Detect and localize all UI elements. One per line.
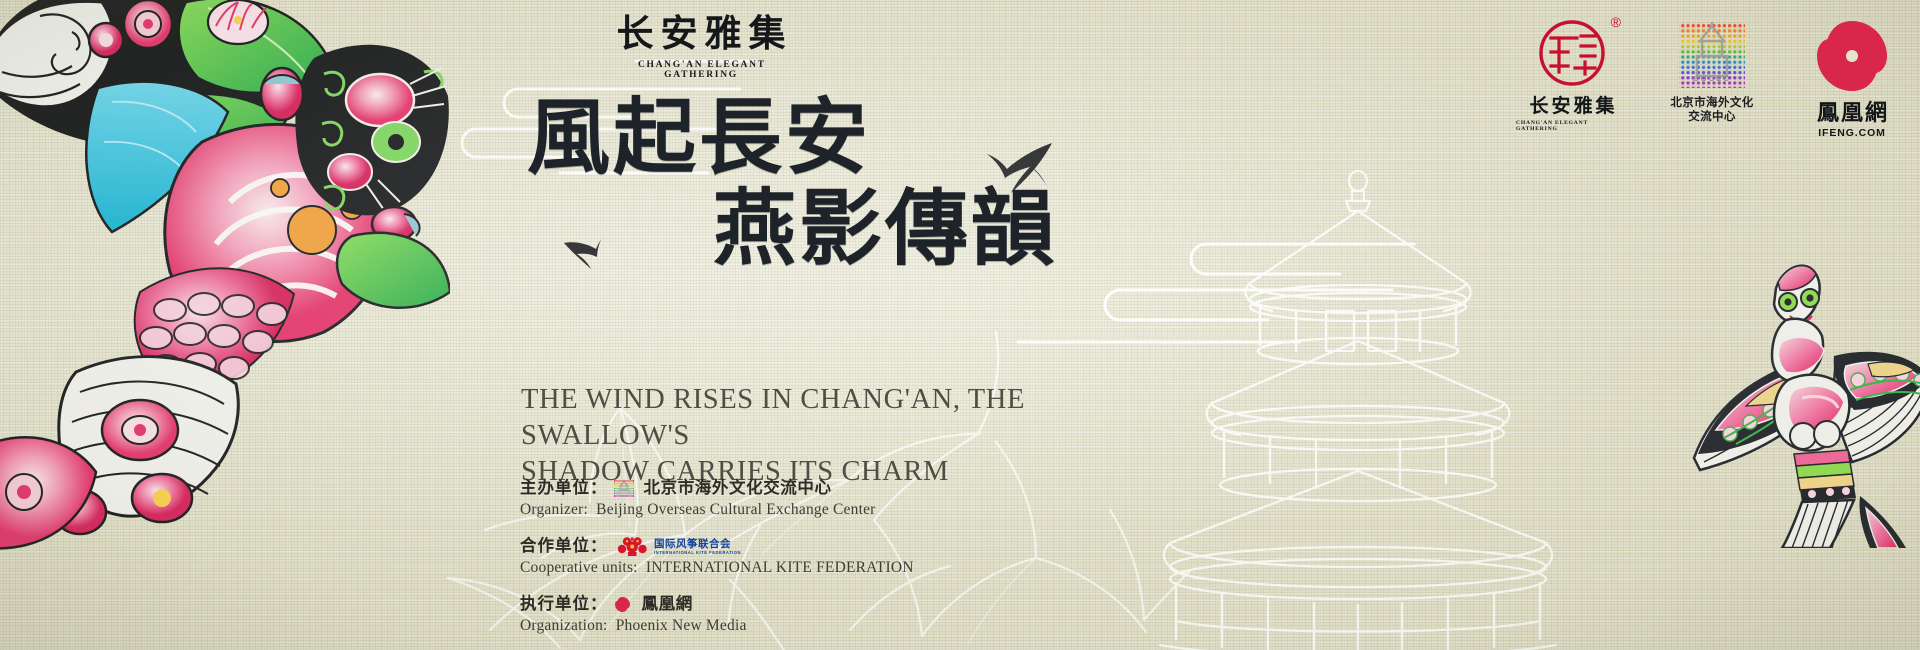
bocec-mark-icon: BOCEC xyxy=(1675,18,1749,92)
credit-organization-org-en: Phoenix New Media xyxy=(616,617,747,634)
credit-organization-cn: 执行单位： 鳳凰網 xyxy=(520,594,1140,614)
peony-swallow-kite-artwork xyxy=(0,0,450,552)
banner-root: 长安雅集 CHANG'AN ELEGANT GATHERING 風起長安 燕影傳… xyxy=(0,0,1920,650)
subtitle-line-1: THE WIND RISES IN CHANG'AN, THE SWALLOW'… xyxy=(521,382,1201,454)
credit-organizer-org-en: Beijing Overseas Cultural Exchange Cente… xyxy=(596,501,875,518)
changan-logo-cn: 长安雅集 xyxy=(1526,91,1617,118)
phoenix-icon xyxy=(614,596,631,613)
brand-title-cn: 长安雅集 xyxy=(606,16,796,55)
bocec-logo: BOCEC 北京市海外文化 交流中心 xyxy=(1652,18,1772,124)
changan-elegant-gathering-logo: ® 长安雅集 CHANG'AN ELEGANT GATHERING xyxy=(1516,18,1628,132)
main-title: 風起長安 燕影傳韻 xyxy=(505,96,1065,272)
credit-organization: 执行单位： 鳳凰網 Organization: Phoenix New Medi… xyxy=(520,594,1140,635)
credit-organization-en: Organization: Phoenix New Media xyxy=(520,616,1140,635)
registered-mark: ® xyxy=(1611,14,1621,30)
credit-organizer: 主办单位： xyxy=(520,478,1140,519)
title-line-2: 燕影傳韻 xyxy=(505,186,1065,272)
credit-organizer-cn: 主办单位： xyxy=(520,478,1140,498)
ifeng-logo: 鳳凰網 IFENG.COM xyxy=(1796,18,1908,139)
credit-cooperative: 合作单位： 国际风筝联合会 INTERNATIONAL KITE FED xyxy=(520,536,1140,577)
ifeng-logo-en: IFENG.COM xyxy=(1818,127,1886,139)
credit-organization-label-cn: 执行单位： xyxy=(520,594,608,614)
bocec-icon xyxy=(614,480,634,497)
svg-text:国际风筝联合会: 国际风筝联合会 xyxy=(654,537,731,550)
bocec-logo-cn-line2: 交流中心 xyxy=(1670,110,1753,124)
title-line-1: 風起長安 xyxy=(505,96,1065,180)
ifeng-logo-cn: 鳳凰網 xyxy=(1815,95,1889,127)
credit-cooperative-label-en: Cooperative units: xyxy=(520,559,638,576)
credit-organizer-label-cn: 主办单位： xyxy=(520,478,608,498)
seal-icon: ® xyxy=(1537,18,1607,88)
credits-block: 主办单位： xyxy=(520,478,1140,650)
svg-text:INTERNATIONAL KITE FEDERATION: INTERNATIONAL KITE FEDERATION xyxy=(654,550,741,555)
credit-organization-label-en: Organization: xyxy=(520,617,608,634)
subtitle: THE WIND RISES IN CHANG'AN, THE SWALLOW'… xyxy=(521,382,1201,490)
bocec-logo-cn: 北京市海外文化 交流中心 xyxy=(1670,96,1753,124)
credit-organizer-label-en: Organizer: xyxy=(520,501,588,518)
kite-federation-icon: 国际风筝联合会 INTERNATIONAL KITE FEDERATION xyxy=(614,536,746,556)
bocec-logo-cn-line1: 北京市海外文化 xyxy=(1670,96,1753,110)
credit-organizer-en: Organizer: Beijing Overseas Cultural Exc… xyxy=(520,500,1140,519)
phoenix-pinwheel-icon xyxy=(1814,18,1890,94)
credit-cooperative-cn: 合作单位： 国际风筝联合会 INTERNATIONAL KITE FED xyxy=(520,536,1140,556)
bocec-mark-text: BOCEC xyxy=(1693,74,1731,83)
changan-logo-en: CHANG'AN ELEGANT GATHERING xyxy=(1516,120,1628,132)
brand-wordmark: 长安雅集 CHANG'AN ELEGANT GATHERING xyxy=(606,16,796,80)
credit-organization-org-cn: 鳳凰網 xyxy=(642,594,693,614)
partner-logo-bar: ® 长安雅集 CHANG'AN ELEGANT GATHERING xyxy=(1516,18,1908,139)
credit-cooperative-en: Cooperative units: INTERNATIONAL KITE FE… xyxy=(520,558,1140,577)
beijing-shayan-swallow-kite-artwork xyxy=(1690,258,1920,548)
brand-title-en: CHANG'AN ELEGANT GATHERING xyxy=(606,60,796,80)
credit-cooperative-org-en: INTERNATIONAL KITE FEDERATION xyxy=(646,559,914,576)
credit-cooperative-label-cn: 合作单位： xyxy=(520,536,608,556)
credit-organizer-org-cn: 北京市海外文化交流中心 xyxy=(644,478,832,498)
